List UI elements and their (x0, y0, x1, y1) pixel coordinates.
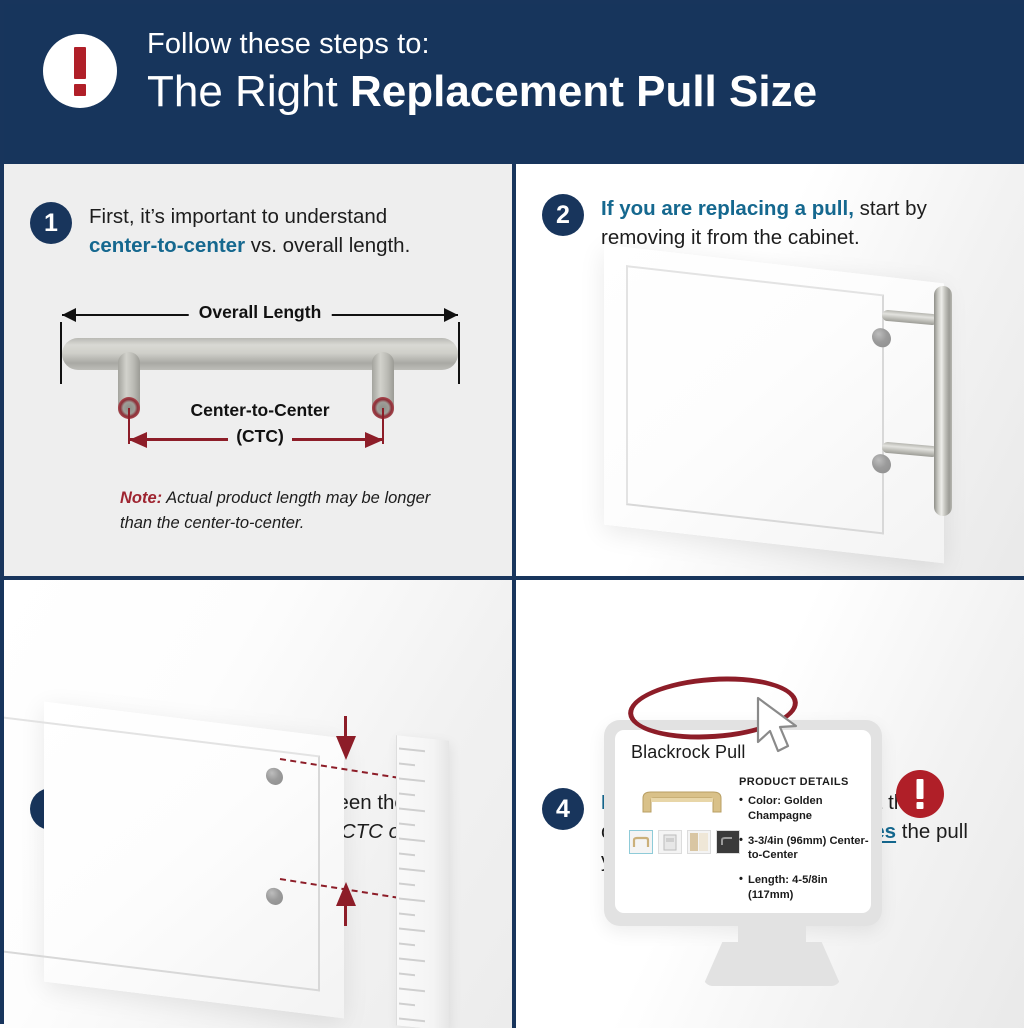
list-item: 3-3/4in (96mm) Center-to-Center (739, 834, 871, 864)
monitor-mockup: Blackrock Pull (604, 720, 882, 926)
ruler-icon (396, 735, 449, 1028)
page-title: The Right Replacement Pull Size (147, 67, 817, 116)
header-banner: Follow these steps to: The Right Replace… (4, 4, 1024, 164)
step-1-line2: vs. overall length. (245, 234, 410, 257)
thumbnail-4[interactable] (716, 830, 740, 854)
step-panel-3: 3 Measure the distance between the cente… (4, 580, 512, 1028)
door-inner-panel (4, 714, 320, 991)
mouse-pointer-icon (754, 696, 810, 760)
monitor-stand-base (703, 942, 841, 986)
note-body: Actual product length may be longer than… (120, 489, 430, 532)
ctc-label: Center-to-Center (50, 400, 470, 421)
overall-length-label: Overall Length (189, 302, 332, 323)
infographic-page: Follow these steps to: The Right Replace… (0, 0, 1024, 1024)
exclamation-dot (917, 802, 924, 809)
product-page-screen: Blackrock Pull (615, 730, 871, 913)
pull-dimension-diagram: Overall Length Center-to-Center (CTC) (50, 304, 470, 464)
steps-grid: 1 First, it’s important to understand ce… (4, 164, 1024, 1028)
product-details-heading: PRODUCT DETAILS (739, 776, 849, 788)
pull-bar-vertical (934, 286, 952, 516)
page-title-bold: Replacement Pull Size (350, 67, 817, 116)
step-1-text: First, it’s important to understand cent… (89, 202, 459, 260)
arrow-shaft (344, 904, 347, 926)
overall-arrow-left (62, 308, 76, 322)
exclamation-circle-icon (43, 34, 117, 108)
exclamation-bar (917, 779, 924, 799)
step-4-number-badge: 4 (542, 788, 584, 830)
cabinet-door (604, 245, 944, 564)
thumbnail-2[interactable] (658, 830, 682, 854)
thumbnail-3[interactable] (687, 830, 711, 854)
header-text-block: Follow these steps to: The Right Replace… (147, 28, 817, 117)
exclamation-dot (74, 84, 86, 96)
exclamation-bar (74, 47, 86, 79)
product-image (629, 774, 735, 832)
cabinet-door (44, 702, 344, 1019)
step-2-accent: If you are replacing a pull, (601, 197, 854, 220)
overall-tick-right (458, 322, 460, 384)
header-kicker: Follow these steps to: (147, 28, 817, 61)
gold-pull-icon (633, 784, 731, 814)
measure-illustration (44, 710, 512, 1028)
step-2-number-badge: 2 (542, 194, 584, 236)
arrow-shaft (344, 716, 347, 738)
thumbnail-strip[interactable] (629, 830, 740, 854)
ctc-abbrev-wrap: (CTC) (50, 426, 470, 447)
step-2-header: 2 If you are replacing a pull, start by … (542, 194, 971, 252)
arrow-head (336, 882, 356, 906)
step-2-text: If you are replacing a pull, start by re… (601, 194, 971, 252)
overall-length-dimension: Overall Length (50, 304, 470, 326)
step-panel-1: 1 First, it’s important to understand ce… (4, 164, 512, 576)
step-panel-4: 4 Before purchasing, verify that the cen… (516, 580, 1024, 1028)
product-details-list: Color: Golden Champagne 3-3/4in (96mm) C… (739, 794, 871, 913)
cabinet-door-illustration (596, 264, 1024, 576)
exclamation-circle-icon (896, 770, 944, 818)
step-panel-2: 2 If you are replacing a pull, start by … (516, 164, 1024, 576)
overall-arrow-right (444, 308, 458, 322)
page-title-light: The Right (147, 67, 350, 116)
thumbnail-1[interactable] (629, 830, 653, 854)
ctc-abbrev: (CTC) (228, 426, 292, 446)
step-1-number-badge: 1 (30, 202, 72, 244)
product-title: Blackrock Pull (631, 742, 745, 763)
note-text: Note: Actual product length may be longe… (120, 486, 450, 536)
step-1-line1: First, it’s important to understand (89, 205, 387, 228)
step-1-accent: center-to-center (89, 234, 245, 257)
arrow-head (336, 736, 356, 760)
list-item: Length: 4-5/8in (117mm) (739, 873, 871, 903)
note-label: Note: (120, 489, 162, 507)
list-item: Color: Golden Champagne (739, 794, 871, 824)
step-1-header: 1 First, it’s important to understand ce… (30, 202, 459, 260)
door-inner-panel (626, 265, 884, 534)
